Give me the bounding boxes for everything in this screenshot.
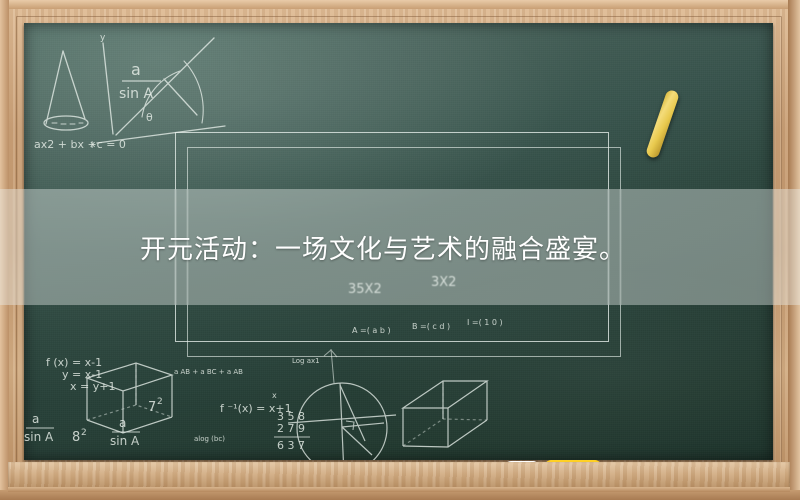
chalk-ledge-lip bbox=[8, 487, 790, 492]
title-container: 开元活动：一场文化与艺术的融合盛宴。 bbox=[0, 189, 800, 305]
frame-bevel-top bbox=[0, 0, 800, 9]
chalkboard-banner: a sin A y x θ ax2 + bx +c = 0 f (x) = x-… bbox=[0, 0, 800, 500]
page-title: 开元活动：一场文化与艺术的融合盛宴。 bbox=[140, 229, 626, 266]
